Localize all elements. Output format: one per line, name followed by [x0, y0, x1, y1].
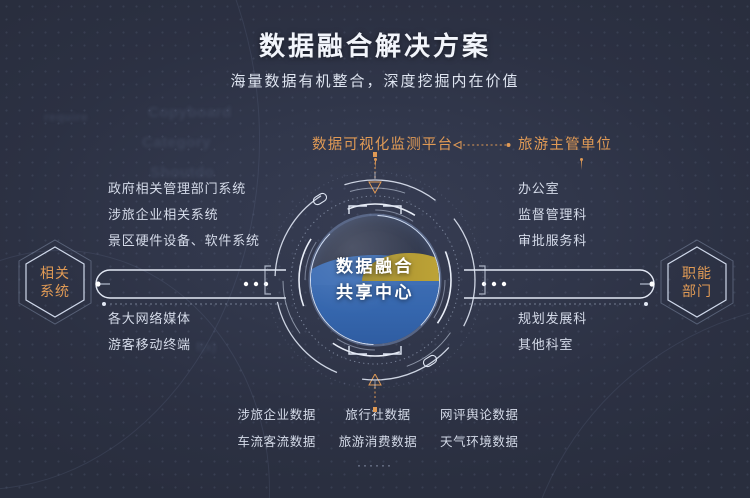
- list-item: 涉旅企业数据: [237, 404, 316, 423]
- center-sphere: [311, 216, 439, 344]
- infographic-canvas: Copyboard Category Shoutdo require f(x) …: [0, 0, 750, 498]
- top-connector-arrow-icon: [452, 140, 512, 150]
- list-item: 其他科室: [518, 332, 587, 358]
- hexagon-right-line2: 部门: [682, 282, 712, 300]
- hexagon-right-line1: 职能: [682, 264, 712, 282]
- list-item: 规划发展科: [518, 306, 587, 332]
- hexagon-left-line1: 相关: [40, 264, 70, 282]
- right-department-list-bottom: 规划发展科 其他科室: [518, 306, 587, 358]
- label-tourism-authority: 旅游主管单位: [518, 133, 612, 154]
- list-item: 车流客流数据: [237, 431, 316, 450]
- hexagon-related-systems[interactable]: 相关 系统: [16, 238, 94, 326]
- list-item: 游客移动终端: [108, 332, 191, 358]
- list-item: 涉旅企业相关系统: [108, 202, 260, 228]
- page-title: 数据融合解决方案: [0, 26, 750, 63]
- list-item: 政府相关管理部门系统: [108, 176, 260, 202]
- background-text-4: f(x): [196, 340, 217, 354]
- list-item: 景区硬件设备、软件系统: [108, 228, 260, 254]
- list-item: 各大网络媒体: [108, 306, 191, 332]
- list-item: 审批服务科: [518, 228, 587, 254]
- left-source-list-bottom: 各大网络媒体 游客移动终端: [108, 306, 191, 358]
- background-text-3: require: [44, 110, 88, 124]
- top-marker-stem-right: [581, 161, 582, 170]
- bottom-ellipsis: ······: [0, 458, 750, 472]
- right-department-list-top: 办公室 监督管理科 审批服务科: [518, 176, 587, 254]
- left-source-list-top: 政府相关管理部门系统 涉旅企业相关系统 景区硬件设备、软件系统: [108, 176, 260, 254]
- sphere-highlight: [311, 216, 439, 344]
- list-item: 旅游消费数据: [339, 431, 418, 450]
- hexagon-left-label: 相关 系统: [40, 264, 70, 300]
- list-item: 办公室: [518, 176, 587, 202]
- list-item: 天气环境数据: [440, 431, 519, 450]
- list-item: 监督管理科: [518, 202, 587, 228]
- data-fusion-hub[interactable]: 数据融合 共享中心: [265, 170, 485, 390]
- background-text-1: Category: [142, 134, 211, 151]
- hexagon-right-label: 职能 部门: [682, 264, 712, 300]
- list-item: 网评舆论数据: [440, 404, 519, 423]
- page-subtitle: 海量数据有机整合，深度挖掘内在价值: [0, 70, 750, 91]
- hexagon-left-line2: 系统: [40, 282, 70, 300]
- background-text-0: Copyboard: [148, 104, 232, 121]
- connector-pipe-right: [462, 262, 662, 306]
- label-visualization-platform: 数据可视化监测平台: [312, 133, 453, 154]
- connector-pipe-left: [88, 262, 288, 306]
- hexagon-functional-departments[interactable]: 职能 部门: [658, 238, 736, 326]
